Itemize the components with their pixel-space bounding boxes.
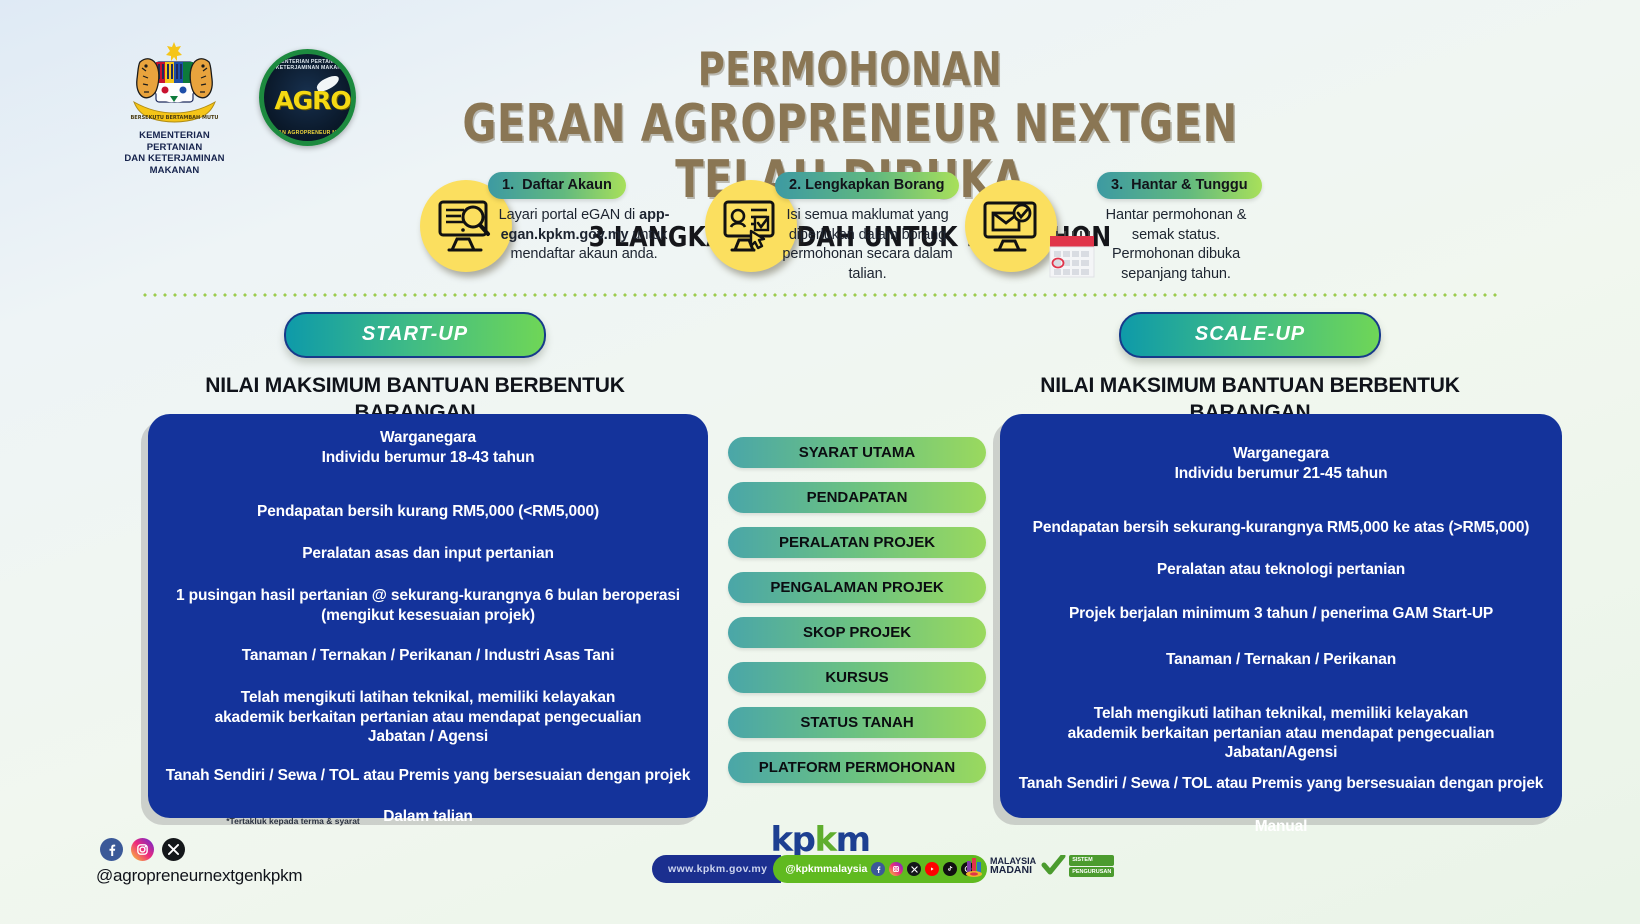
- step-1-badge: 1.Daftar Akaun: [488, 172, 626, 199]
- madani-emblem-icon: [965, 855, 985, 877]
- logo-group: BERSEKUTU BERTAMBAH MUTU KEMENTERIAN PER…: [112, 38, 356, 156]
- step-3-icon-circle: [965, 180, 1057, 272]
- madani-text: MALAYSIA MADANI: [990, 857, 1036, 876]
- ministry-contact-bar: www.kpkm.gov.my @kpkmmalaysia: [652, 855, 987, 883]
- category-pill-peralatan-projek[interactable]: PERALATAN PROJEK: [728, 527, 986, 558]
- ministry-handle: @kpkmmalaysia: [785, 863, 867, 875]
- step-1-title: Daftar Akaun: [522, 177, 612, 193]
- step-2-title: Lengkapkan Borang: [805, 177, 944, 193]
- category-pill-syarat-utama[interactable]: SYARAT UTAMA: [728, 437, 986, 468]
- website-url[interactable]: www.kpkm.gov.my: [652, 855, 781, 883]
- facebook-icon[interactable]: [871, 862, 885, 876]
- malaysia-madani-logo: MALAYSIA MADANI SISTEM PENGURUSAN: [965, 855, 1114, 877]
- step-2-description: Isi semua maklumat yang diperlukan dalam…: [775, 206, 960, 284]
- scaleup-row-4: Tanaman / Ternakan / Perikanan: [1008, 650, 1554, 670]
- kpkm-logo-part3: m: [836, 820, 870, 860]
- startup-badge[interactable]: START-UP: [284, 312, 546, 358]
- monitor-form-cursor-icon: [722, 199, 780, 253]
- category-pill-kursus[interactable]: KURSUS: [728, 662, 986, 693]
- step-2-body: 2. Lengkapkan Borang Isi semua maklumat …: [775, 172, 960, 284]
- step-3-title: Hantar & Tunggu: [1131, 177, 1248, 193]
- monitor-envelope-check-icon: [982, 199, 1040, 253]
- checkmark-icon: [1041, 855, 1067, 877]
- scaleup-row-3: Projek berjalan minimum 3 tahun / peneri…: [1008, 604, 1554, 624]
- instagram-icon[interactable]: [889, 862, 903, 876]
- steps-section: 1.Daftar Akaun Layari portal eGAN di app…: [0, 172, 1640, 292]
- madani-line2: MADANI: [990, 866, 1036, 876]
- facebook-icon[interactable]: [100, 838, 123, 861]
- step-2-number: 2.: [789, 177, 801, 193]
- step-2-badge: 2. Lengkapkan Borang: [775, 172, 959, 199]
- x-icon[interactable]: [907, 862, 921, 876]
- kpkm-logo-part2: k: [814, 820, 835, 860]
- scaleup-badge[interactable]: SCALE-UP: [1119, 312, 1381, 358]
- startup-row-1: Pendapatan bersih kurang RM5,000 (<RM5,0…: [156, 502, 700, 522]
- category-pill-pendapatan[interactable]: PENDAPATAN: [728, 482, 986, 513]
- category-pill-platform-permohonan[interactable]: PLATFORM PERMOHONAN: [728, 752, 986, 783]
- cert-line2: PENGURUSAN: [1069, 867, 1114, 878]
- cert-line1: SISTEM: [1069, 855, 1114, 866]
- scaleup-row-6: Tanah Sendiri / Sewa / TOL atau Premis y…: [1008, 774, 1554, 794]
- startup-row-2: Peralatan asas dan input pertanian: [156, 544, 700, 564]
- agropreneur-handle: @agropreneurnextgenkpkm: [96, 866, 302, 886]
- kpkm-logo: kpkm: [0, 820, 1640, 860]
- scaleup-panel: WarganegaraIndividu berumur 21-45 tahun …: [1000, 414, 1562, 818]
- scaleup-row-1: Pendapatan bersih sekurang-kurangnya RM5…: [1008, 518, 1554, 538]
- category-pill-skop-projek[interactable]: SKOP PROJEK: [728, 617, 986, 648]
- category-pill-list: SYARAT UTAMA PENDAPATAN PERALATAN PROJEK…: [728, 437, 986, 797]
- certification-badge: SISTEM PENGURUSAN: [1041, 855, 1114, 877]
- instagram-icon[interactable]: [131, 838, 154, 861]
- step-3-description: Hantar permohonan & semak status. Permoh…: [1097, 206, 1255, 284]
- svg-text:BERSEKUTU BERTAMBAH MUTU: BERSEKUTU BERTAMBAH MUTU: [131, 115, 219, 121]
- startup-row-6: Tanah Sendiri / Sewa / TOL atau Premis y…: [156, 766, 700, 786]
- step-3-body: 3.Hantar & Tunggu Hantar permohonan & se…: [1097, 172, 1255, 284]
- scaleup-row-2: Peralatan atau teknologi pertanian: [1008, 560, 1554, 580]
- page-title-line1: PERMOHONAN: [434, 44, 1266, 94]
- scaleup-row-0: WarganegaraIndividu berumur 21-45 tahun: [1008, 444, 1554, 483]
- step-1-description: Layari portal eGAN di app-egan.kpkm.gov.…: [488, 206, 680, 265]
- calendar-icon: [1049, 230, 1095, 278]
- dotted-divider: [140, 293, 1500, 297]
- startup-row-0: WarganegaraIndividu berumur 18-43 tahun: [156, 428, 700, 467]
- certification-text: SISTEM PENGURUSAN: [1069, 855, 1114, 877]
- ministry-social-group: @kpkmmalaysia: [773, 855, 987, 883]
- tiktok-icon[interactable]: [943, 862, 957, 876]
- startup-row-3: 1 pusingan hasil pertanian @ sekurang-ku…: [156, 586, 700, 625]
- step-3-number: 3.: [1111, 177, 1123, 193]
- social-links-left: [100, 838, 185, 861]
- step-1-desc-pre: Layari portal eGAN di: [499, 207, 636, 223]
- step-3-badge: 3.Hantar & Tunggu: [1097, 172, 1262, 199]
- startup-row-5: Telah mengikuti latihan teknikal, memili…: [156, 688, 700, 747]
- header: BERSEKUTU BERTAMBAH MUTU KEMENTERIAN PER…: [0, 0, 1640, 180]
- kpkm-logo-part1: kp: [770, 820, 814, 860]
- ministry-name: KEMENTERIAN PERTANIAN DAN KETERJAMINAN M…: [112, 130, 237, 176]
- scaleup-row-5: Telah mengikuti latihan teknikal, memili…: [1008, 704, 1554, 763]
- startup-panel: WarganegaraIndividu berumur 18-43 tahun …: [148, 414, 708, 818]
- step-1-number: 1.: [502, 177, 514, 193]
- x-icon[interactable]: [162, 838, 185, 861]
- startup-row-4: Tanaman / Ternakan / Perikanan / Industr…: [156, 646, 700, 666]
- monitor-magnifier-icon: [437, 199, 495, 253]
- coat-of-arms-icon: BERSEKUTU BERTAMBAH MUTU: [112, 38, 237, 130]
- step-1-body: 1.Daftar Akaun Layari portal eGAN di app…: [488, 172, 680, 265]
- disclaimer-text: *Tertakluk kepada terma & syarat: [168, 816, 418, 826]
- malaysia-coat-of-arms-logo: BERSEKUTU BERTAMBAH MUTU KEMENTERIAN PER…: [112, 38, 237, 156]
- category-pill-pengalaman-projek[interactable]: PENGALAMAN PROJEK: [728, 572, 986, 603]
- youtube-icon[interactable]: [925, 862, 939, 876]
- category-pill-status-tanah[interactable]: STATUS TANAH: [728, 707, 986, 738]
